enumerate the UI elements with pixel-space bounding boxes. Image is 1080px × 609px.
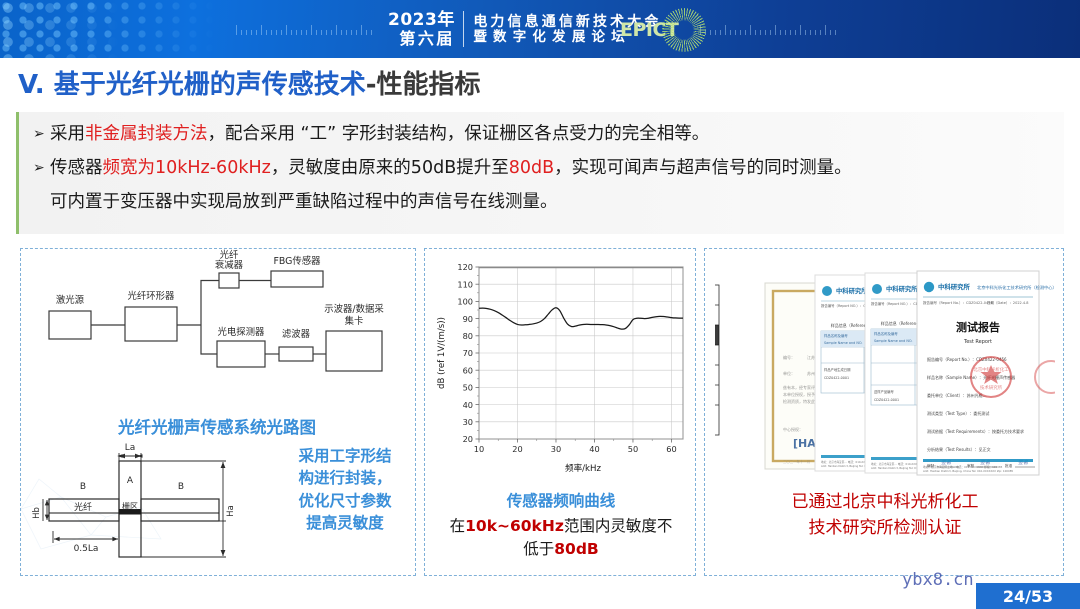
svg-text:50: 50 — [463, 383, 473, 393]
caption-run: 80dB — [554, 540, 598, 558]
bullet-text-run: 频宽为10kHz-60kHz — [103, 158, 271, 178]
page-title: V. 基于光纤光栅的声传感技术-性能指标 — [18, 64, 481, 104]
svg-text:50: 50 — [628, 444, 638, 454]
svg-text:20: 20 — [512, 444, 522, 454]
caption-run: 范围内灵敏度不 — [564, 517, 673, 535]
banner-dot-pattern-large — [0, 0, 120, 58]
svg-text:单位：: 单位： — [783, 370, 795, 376]
svg-text:技术研究所: 技术研究所 — [980, 384, 1003, 391]
label-circulator: 光纤环形器 — [128, 290, 176, 302]
svg-text:样品名称及编号: 样品名称及编号 — [824, 333, 848, 338]
svg-text:40: 40 — [589, 444, 599, 454]
bullet-text-run: 80dB — [509, 158, 554, 178]
certificate-caption: 已通过北京中科光析化工 技术研究所检测认证 — [705, 489, 1065, 542]
label-hb: Hb — [32, 507, 42, 519]
certificate-photo: 資 證 编号：江苏… 单位：苏州… 兹有本，经专家评审 本单位授权，授予其 检测… — [715, 259, 1055, 481]
svg-text:Add: Haidian District, Beijing: Add: Haidian District, Beijing, China Te… — [923, 469, 1013, 473]
svg-text:80: 80 — [463, 331, 473, 341]
panel-certificates: 資 證 编号：江苏… 单位：苏州… 兹有本，经专家评审 本单位授权，授予其 检测… — [704, 248, 1064, 576]
banner-ruler-right — [700, 24, 840, 35]
bullet-text-run: 非金属封装方法 — [85, 124, 208, 144]
svg-text:二〇二一年十一月: 二〇二一年十一月 — [783, 459, 810, 464]
svg-text:中科研究所: 中科研究所 — [836, 286, 868, 295]
label-scope-2: 集卡 — [345, 315, 364, 327]
svg-text:60: 60 — [666, 444, 676, 454]
bullet-text-run: 传感器 — [50, 158, 103, 178]
epict-ring-icon — [662, 8, 706, 52]
svg-text:CDZ0422-0001: CDZ0422-0001 — [874, 398, 899, 402]
test-report-title-cn: 测试报告 — [956, 320, 1000, 334]
ibeam-caption-line: 构进行封装， — [277, 467, 413, 489]
conference-banner: 2023年 第六届 电力信息通信新技术大会 暨数字化发展论坛 EPICT — [0, 0, 1080, 58]
caption-run: 低于 — [523, 540, 554, 558]
ibeam-caption: 采用工字形结 构进行封装， 优化尺寸参数 提高灵敏度 — [277, 445, 413, 535]
bullet-text-run: ，灵敏度由原来的50dB提升至 — [271, 158, 509, 178]
label-laser: 激光源 — [56, 294, 85, 306]
ibeam-structure-diagram: La A B B 光纤 栅区 0.5La Hb Ha — [21, 439, 291, 573]
svg-text:样品产地生成日期: 样品产地生成日期 — [824, 367, 851, 372]
chart-caption-title: 传感器频响曲线 — [425, 489, 697, 511]
banner-edition: 第六届 — [399, 30, 455, 47]
svg-text:样品名称及编号: 样品名称及编号 — [874, 331, 898, 336]
svg-text:40: 40 — [463, 400, 473, 410]
svg-text:中科研究所: 中科研究所 — [938, 282, 971, 291]
chart-caption-detail: 在10k~60kHz范围内灵敏度不 低于80dB — [431, 515, 691, 562]
optical-diagram-caption: 光纤光栅声传感系统光路图 — [21, 417, 413, 438]
svg-text:100: 100 — [457, 297, 473, 307]
svg-text:本单位授权，授予其: 本单位授权，授予其 — [783, 391, 819, 397]
caption-run: 在 — [450, 517, 466, 535]
svg-text:北京中科光析化工: 北京中科光析化工 — [973, 366, 1009, 373]
caption-run: 10k~60kHz — [465, 517, 564, 535]
svg-text:日期（Date）：2022.4.8: 日期（Date）：2022.4.8 — [987, 300, 1028, 305]
label-b-left: B — [80, 482, 86, 492]
svg-text:中科研究所: 中科研究所 — [886, 284, 918, 293]
bullet-item: ➢ 传感器频宽为10kHz-60kHz，灵敏度由原来的50dB提升至80dB，实… — [33, 156, 1056, 181]
panel-optical-system: 激光源 光纤环形器 光纤 衰减器 FBG传感器 光电探测器 滤波器 示波器/数据… — [20, 248, 416, 576]
label-a: A — [127, 476, 134, 486]
svg-text:编号：: 编号： — [783, 354, 795, 360]
chart-caption-line1: 在10k~60kHz范围内灵敏度不 — [431, 515, 691, 538]
bullet-marker-icon: ➢ — [33, 156, 50, 181]
svg-text:送样产品编号: 送样产品编号 — [874, 389, 894, 394]
svg-text:dB (ref 1V/(m/s)): dB (ref 1V/(m/s)) — [437, 317, 447, 389]
bullet-text-run: ，配合采用 “工” 字形封装结构，保证栅区各点受力的完全相等。 — [208, 124, 710, 144]
ibeam-caption-line: 采用工字形结 — [277, 445, 413, 467]
bullet-text: 采用非金属封装方法，配合采用 “工” 字形封装结构，保证栅区各点受力的完全相等。 — [50, 122, 709, 147]
label-b-right: B — [178, 482, 184, 492]
bullet-item: ➢ 采用非金属封装方法，配合采用 “工” 字形封装结构，保证栅区各点受力的完全相… — [33, 122, 1056, 147]
label-attenuator-2: 衰减器 — [215, 259, 244, 271]
label-ha: Ha — [226, 505, 236, 517]
svg-text:Sample Name and NO.: Sample Name and NO. — [824, 341, 862, 345]
certificate-caption-line2: 技术研究所检测认证 — [705, 515, 1065, 541]
svg-text:北京中科光析化工技术研究所（检测中心）: 北京中科光析化工技术研究所（检测中心） — [977, 284, 1055, 291]
label-half-la: 0.5La — [74, 544, 99, 554]
svg-text:70: 70 — [463, 348, 473, 358]
svg-text:20: 20 — [463, 434, 473, 444]
svg-text:10: 10 — [474, 444, 484, 454]
ibeam-caption-line: 提高灵敏度 — [277, 512, 413, 534]
svg-text:测试类型（Test Type）：委托测试: 测试类型（Test Type）：委托测试 — [927, 410, 989, 416]
frequency-response-plot: 2030405060708090100110120102030405060频率/… — [433, 257, 689, 479]
page-title-main: V. 基于光纤光栅的声传感技术 — [18, 70, 366, 100]
svg-text:频率/kHz: 频率/kHz — [565, 462, 602, 474]
banner-year: 2023年 — [388, 11, 455, 29]
label-detector: 光电探测器 — [218, 326, 266, 338]
bullet-panel: ➢ 采用非金属封装方法，配合采用 “工” 字形封装结构，保证栅区各点受力的完全相… — [16, 112, 1064, 234]
epict-logo: EPICT — [620, 8, 710, 52]
bullet-continuation-text: 可内置于变压器中实现局放到严重缺陷过程中的声信号在线测量。 — [50, 190, 1056, 215]
svg-text:90: 90 — [463, 314, 473, 324]
frequency-response-chart: 2030405060708090100110120102030405060频率/… — [433, 257, 689, 479]
banner-ruler-left — [236, 24, 376, 35]
certificate-stack: 資 證 编号：江苏… 单位：苏州… 兹有本，经专家评审 本单位授权，授予其 检测… — [715, 259, 1055, 481]
banner-year-block: 2023年 第六届 — [388, 11, 463, 47]
panel-frequency-response: 2030405060708090100110120102030405060频率/… — [424, 248, 696, 576]
bullet-marker-icon: ➢ — [33, 122, 50, 147]
watermark: ybx8.cn — [902, 570, 974, 590]
svg-text:110: 110 — [457, 279, 473, 289]
certificate-caption-line1: 已通过北京中科光析化工 — [705, 489, 1065, 515]
bullet-text-run: ，实现可闻声与超声信号的同时测量。 — [554, 158, 852, 178]
label-fbg: FBG传感器 — [273, 255, 321, 267]
bullet-text: 传感器频宽为10kHz-60kHz，灵敏度由原来的50dB提升至80dB，实现可… — [50, 156, 852, 181]
svg-text:30: 30 — [551, 444, 561, 454]
label-grating: 栅区 — [122, 501, 138, 511]
label-la: La — [125, 443, 136, 453]
svg-text:兹有本，经专家评审: 兹有本，经专家评审 — [783, 384, 819, 390]
optical-path-diagram: 激光源 光纤环形器 光纤 衰减器 FBG传感器 光电探测器 滤波器 示波器/数据… — [21, 249, 413, 417]
svg-text:测试依据（Test Requirements）：按委托方技术: 测试依据（Test Requirements）：按委托方技术要求 — [927, 428, 1024, 434]
svg-text:60: 60 — [463, 365, 473, 375]
svg-text:Sample Name and NO.: Sample Name and NO. — [874, 339, 912, 343]
page-number-badge: 24/53 — [976, 583, 1080, 609]
banner-divider — [463, 11, 465, 47]
svg-text:CDZ0422-0001: CDZ0422-0001 — [824, 376, 849, 380]
svg-text:地址：北京市海淀区… 电话：010-XXXXXXX: 地址：北京市海淀区… 电话：010-XXXXXXX — [871, 462, 924, 466]
svg-text:报告编号（Report No.）：CDZ0422-0456: 报告编号（Report No.）：CDZ0422-0456 — [923, 300, 993, 305]
svg-text:批准: 批准 — [1005, 463, 1013, 468]
test-report-title-en: Test Report — [963, 339, 992, 345]
page-title-suffix: -性能指标 — [366, 70, 481, 100]
bullet-text-run: 采用 — [50, 124, 85, 144]
svg-text:[HA: [HA — [793, 437, 816, 450]
slide: 2023年 第六届 电力信息通信新技术大会 暨数字化发展论坛 EPICT V. … — [0, 0, 1080, 609]
chart-caption-line2: 低于80dB — [431, 538, 691, 561]
ibeam-caption-line: 优化尺寸参数 — [277, 490, 413, 512]
svg-text:中心授权：: 中心授权： — [783, 426, 803, 432]
svg-text:分析结果（Test Results）：见正文: 分析结果（Test Results）：见正文 — [927, 446, 991, 452]
label-fiber: 光纤 — [74, 501, 92, 513]
label-filter: 滤波器 — [282, 328, 311, 340]
label-scope-1: 示波器/数据采 — [324, 303, 384, 315]
svg-text:30: 30 — [463, 417, 473, 427]
svg-text:120: 120 — [457, 262, 473, 272]
